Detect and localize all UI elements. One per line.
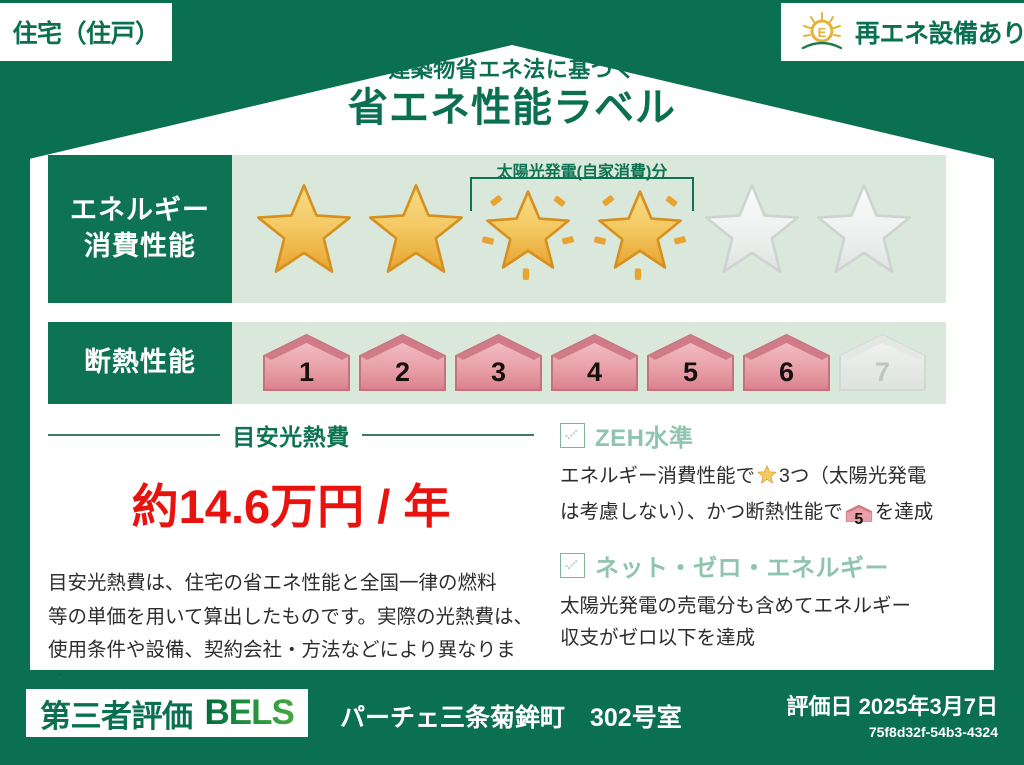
bels-en-logo: BELS <box>205 693 294 733</box>
insulation-rating-area: 1 2 3 <box>232 322 946 404</box>
house-icon-filled <box>356 332 449 394</box>
insulation-level-strip: 1 2 3 <box>232 322 946 404</box>
criteria-zeh-head: ZEH水準 <box>560 418 980 453</box>
house-icon-filled <box>260 332 353 394</box>
house-icon-inline: 5 <box>845 501 873 534</box>
star-icon-filled <box>364 177 468 281</box>
building-name: パーチェ三条菊鉾町 302号室 <box>340 698 682 734</box>
house-icon-filled <box>452 332 545 394</box>
star-slot-6 <box>810 173 918 285</box>
energy-performance-label: 住宅（住戸） E 再エネ設備あり 建築物省エネ法に基づ <box>0 0 1024 765</box>
house-icon-filled <box>740 332 833 394</box>
house-icon-filled <box>548 332 641 394</box>
insulation-slot-2: 2 <box>356 332 449 394</box>
evaluation-info: 評価日 2025年3月7日 75f8d32f-54b3-4324 <box>786 689 998 740</box>
label-footer: 第三者評価 BELS パーチェ三条菊鉾町 302号室 評価日 2025年3月7日… <box>0 675 1024 765</box>
star-rating-strip <box>232 155 946 303</box>
criteria-zeh-text: エネルギー消費性能で3つ（太陽光発電 は考慮しない）、かつ断熱性能で5を達成 <box>560 460 980 534</box>
renewable-equipment-badge: E 再エネ設備あり <box>781 3 1024 61</box>
rule-right <box>362 434 534 436</box>
star-slot-5 <box>698 173 806 285</box>
criteria-zeh-text-line2-part1: は考慮しない）、かつ断熱性能で <box>560 501 843 523</box>
insulation-slot-3: 3 <box>452 332 545 394</box>
solar-sun-icon: E <box>799 11 845 53</box>
criteria-zeh-text-part2: 3つ（太陽光発電 <box>779 465 926 487</box>
cost-heading: 目安光熱費 <box>48 418 534 452</box>
criteria-zeh-text-part1: エネルギー消費性能で <box>560 465 755 487</box>
criteria-column: ZEH水準 エネルギー消費性能で3つ（太陽光発電 は考慮しない）、かつ断熱性能で… <box>560 418 980 669</box>
energy-performance-row: エネルギー 消費性能 太陽光発電(自家消費)分 <box>48 155 946 303</box>
star-icon-filled-solar <box>588 177 692 281</box>
insulation-slot-6: 6 <box>740 332 833 394</box>
house-icon-filled <box>644 332 737 394</box>
cost-note-line-2: 等の単価を用いて算出したものです。実際の光熱費は、 <box>48 601 534 635</box>
evaluation-date: 評価日 2025年3月7日 <box>786 689 998 721</box>
criteria-zeh-line-1: エネルギー消費性能で3つ（太陽光発電 <box>560 460 980 496</box>
criteria-zeh-title: ZEH水準 <box>595 418 694 453</box>
criteria-nze-text: 太陽光発電の売電分も含めてエネルギー 収支がゼロ以下を達成 <box>560 590 980 656</box>
energy-label-line2: 消費性能 <box>84 229 196 265</box>
star-icon-filled <box>252 177 356 281</box>
criteria-nze-head: ネット・ゼロ・エネルギー <box>560 548 980 583</box>
star-icon-empty <box>700 177 804 281</box>
estimated-utility-cost-block: 目安光熱費 約14.6万円 / 年 目安光熱費は、住宅の省エネ性能と全国一律の燃… <box>48 418 534 701</box>
insulation-slot-5: 5 <box>644 332 737 394</box>
bels-logo-plate: 第三者評価 BELS <box>26 689 308 737</box>
cost-value: 約14.6万円 / 年 <box>48 468 534 537</box>
cost-note-line-1: 目安光熱費は、住宅の省エネ性能と全国一律の燃料 <box>48 567 534 601</box>
house-icon-empty <box>836 332 929 394</box>
bels-jp-label: 第三者評価 <box>40 691 193 736</box>
star-icon-inline <box>756 468 778 490</box>
evaluation-id: 75f8d32f-54b3-4324 <box>786 724 998 740</box>
insulation-slot-4: 4 <box>548 332 641 394</box>
renewable-badge-label: 再エネ設備あり <box>855 14 1024 50</box>
insulation-performance-row: 断熱性能 <box>48 322 946 404</box>
cost-heading-text: 目安光熱費 <box>232 418 350 452</box>
category-chip: 住宅（住戸） <box>0 3 172 61</box>
rule-left <box>48 434 220 436</box>
checkbox-unchecked-icon[interactable] <box>560 423 585 448</box>
category-chip-label: 住宅（住戸） <box>12 14 159 50</box>
star-icon-filled-solar <box>476 177 580 281</box>
star-slot-1 <box>250 173 358 285</box>
insulation-slot-1: 1 <box>260 332 353 394</box>
energy-performance-label: エネルギー 消費性能 <box>48 155 232 303</box>
star-icon-empty <box>812 177 916 281</box>
star-slot-3 <box>474 173 582 285</box>
criteria-zeh: ZEH水準 エネルギー消費性能で3つ（太陽光発電 は考慮しない）、かつ断熱性能で… <box>560 418 980 534</box>
svg-text:E: E <box>818 25 827 40</box>
criteria-nze-title: ネット・ゼロ・エネルギー <box>595 548 889 583</box>
criteria-zeh-text-line2-part2: を達成 <box>875 501 934 523</box>
criteria-nze-line-1: 太陽光発電の売電分も含めてエネルギー <box>560 590 980 623</box>
insulation-label-text: 断熱性能 <box>84 345 196 381</box>
checkbox-unchecked-icon[interactable] <box>560 553 585 578</box>
criteria-nze-line-2: 収支がゼロ以下を達成 <box>560 622 980 655</box>
criteria-net-zero-energy: ネット・ゼロ・エネルギー 太陽光発電の売電分も含めてエネルギー 収支がゼロ以下を… <box>560 548 980 656</box>
energy-label-line1: エネルギー <box>70 193 210 229</box>
energy-rating-area: 太陽光発電(自家消費)分 <box>232 155 946 303</box>
star-slot-4 <box>586 173 694 285</box>
insulation-slot-7: 7 <box>836 332 929 394</box>
house-icon-inline-number: 5 <box>845 507 873 534</box>
star-slot-2 <box>362 173 470 285</box>
insulation-performance-label: 断熱性能 <box>48 322 232 404</box>
criteria-zeh-line-2: は考慮しない）、かつ断熱性能で5を達成 <box>560 496 980 534</box>
